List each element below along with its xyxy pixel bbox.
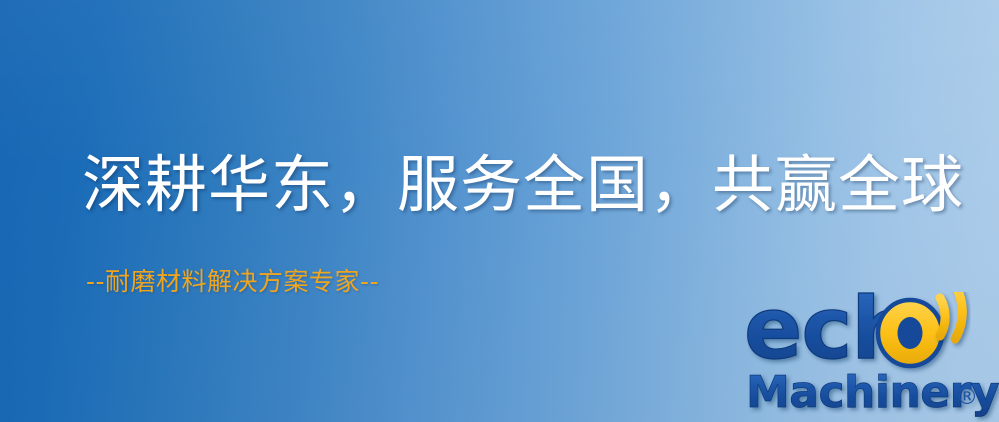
logo-echo-waves [940, 292, 962, 339]
logo-o-counter [898, 317, 923, 349]
logo-tagline-group: Machinery ® [746, 367, 999, 418]
logo-wave-inner-arc [940, 298, 945, 336]
hero-banner: 深耕华东，服务全国，共赢全球 --耐磨材料解决方案专家-- [0, 0, 999, 422]
logo-letter-o [878, 300, 942, 366]
echo-machinery-logo: ech Machinery ® [744, 292, 999, 422]
logo-registered-trademark: ® [956, 385, 978, 410]
logo-wave-outer-arc [955, 292, 962, 339]
logo-svg: ech Machinery ® [744, 292, 999, 422]
banner-subtitle: --耐磨材料解决方案专家-- [86, 268, 379, 296]
banner-headline: 深耕华东，服务全国，共赢全球 [82, 152, 964, 217]
